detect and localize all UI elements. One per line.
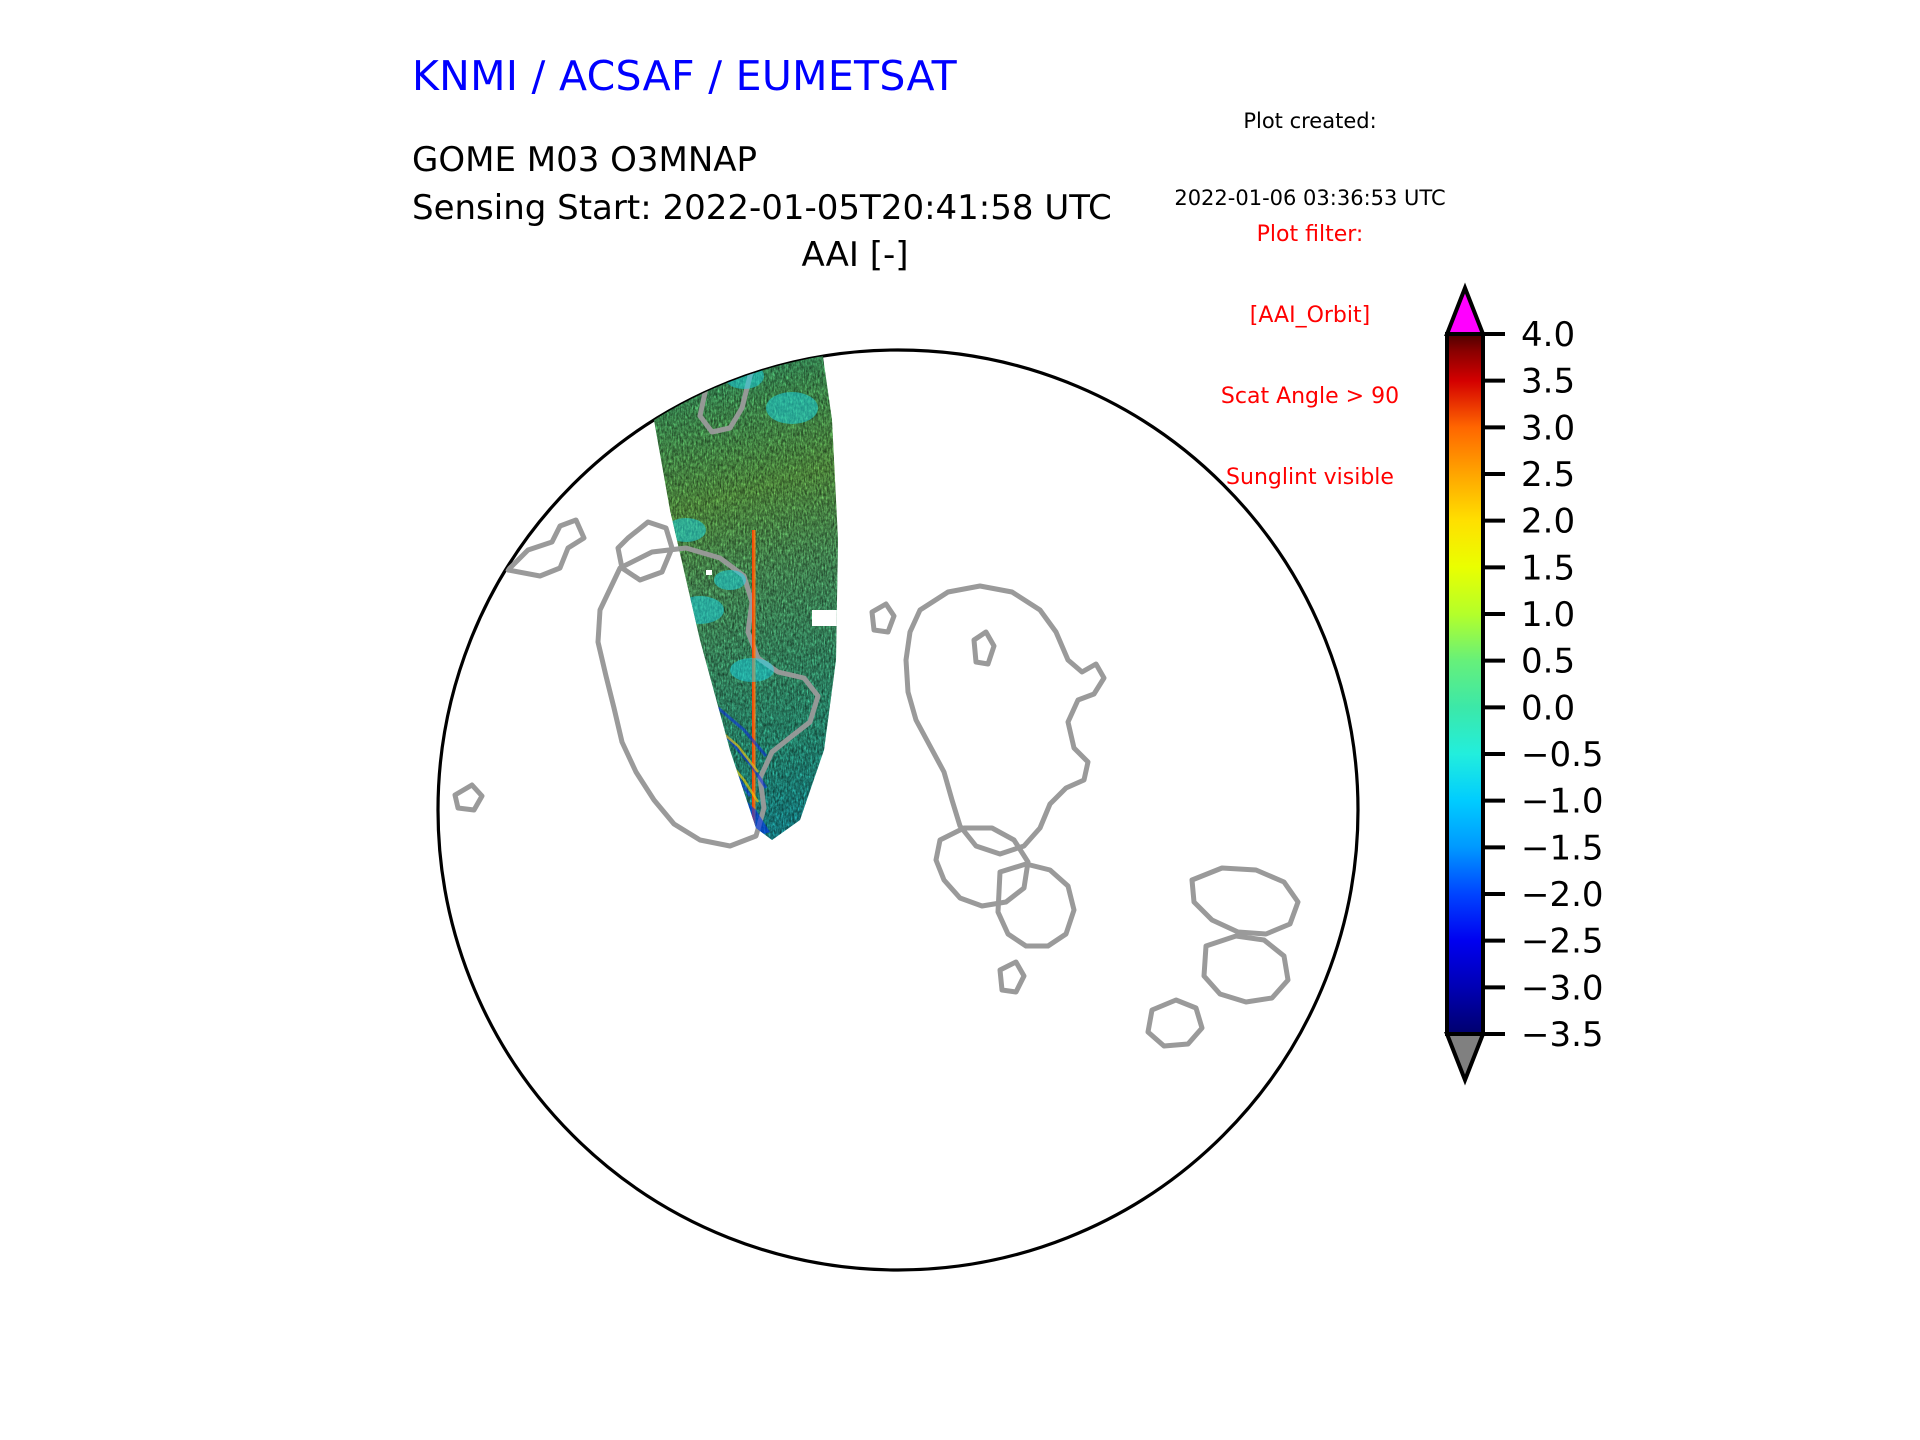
colorbar-tick-label: 4.0 [1521,315,1575,355]
colorbar-tick-label: −3.5 [1521,1015,1604,1055]
variable-title: AAI [-] [801,235,908,275]
header-organisations: KNMI / ACSAF / EUMETSAT [412,52,957,100]
colorbar-panel: 4.03.53.02.52.01.51.00.50.0−0.5−1.0−1.5−… [1425,280,1845,1340]
plot-filter-label: Plot filter: [1150,220,1470,249]
colorbar-tick-label: −1.0 [1521,782,1604,822]
colorbar-tick-label: −0.5 [1521,735,1604,775]
sensing-start-title: Sensing Start: 2022-01-05T20:41:58 UTC [412,188,1112,228]
map-svg [400,280,1400,1340]
colorbar-tick-label: 2.5 [1521,455,1575,495]
colorbar-tick-label: 0.5 [1521,642,1575,682]
colorbar-tick-label: 2.0 [1521,502,1575,542]
globe-outline [438,350,1358,1270]
colorbar-tick-label: −2.5 [1521,922,1604,962]
colorbar-tick-label: −1.5 [1521,828,1604,868]
colorbar-tick-labels: 4.03.53.02.52.01.51.00.50.0−0.5−1.0−1.5−… [1521,315,1604,1055]
colorbar-over-arrow [1447,288,1483,334]
colorbar-tick-label: −2.0 [1521,875,1604,915]
plot-created-label: Plot created: [1150,108,1470,136]
map-panel [400,280,1400,1320]
colorbar-ticks [1483,334,1505,1034]
colorbar-tick-label: 3.0 [1521,408,1575,448]
colorbar-tick-label: 1.5 [1521,548,1575,588]
colorbar-tick-label: 0.0 [1521,688,1575,728]
colorbar-gradient [1447,334,1483,1034]
product-title: GOME M03 O3MNAP [412,140,757,180]
colorbar-svg: 4.03.53.02.52.01.51.00.50.0−0.5−1.0−1.5−… [1425,280,1845,1340]
colorbar-under-arrow [1447,1034,1483,1080]
colorbar-tick-label: −3.0 [1521,968,1604,1008]
colorbar-tick-label: 1.0 [1521,595,1575,635]
colorbar-tick-label: 3.5 [1521,362,1575,402]
